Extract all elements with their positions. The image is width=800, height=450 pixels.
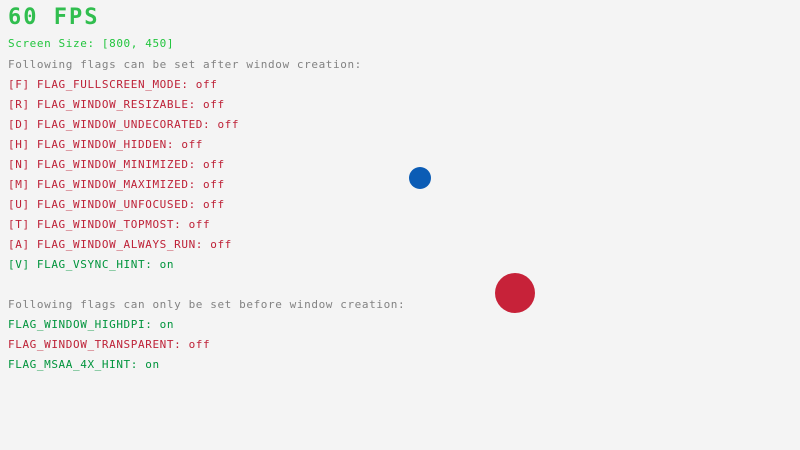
app-window: 60 FPS Screen Size: [800, 450] Following… xyxy=(0,0,800,450)
blue-ball-shape xyxy=(409,167,431,189)
flag-row-window-topmost[interactable]: [T] FLAG_WINDOW_TOPMOST: off xyxy=(8,218,210,231)
flag-row-fullscreen-mode[interactable]: [F] FLAG_FULLSCREEN_MODE: off xyxy=(8,78,217,91)
flag-row-window-transparent: FLAG_WINDOW_TRANSPARENT: off xyxy=(8,338,210,351)
flag-row-window-minimized[interactable]: [N] FLAG_WINDOW_MINIMIZED: off xyxy=(8,158,225,171)
flag-row-window-hidden[interactable]: [H] FLAG_WINDOW_HIDDEN: off xyxy=(8,138,203,151)
after-creation-heading: Following flags can be set after window … xyxy=(8,58,362,71)
flag-row-window-unfocused[interactable]: [U] FLAG_WINDOW_UNFOCUSED: off xyxy=(8,198,225,211)
fps-counter: 60 FPS xyxy=(8,6,99,30)
screen-size-label: Screen Size: [800, 450] xyxy=(8,37,174,50)
flag-row-window-maximized[interactable]: [M] FLAG_WINDOW_MAXIMIZED: off xyxy=(8,178,225,191)
flag-row-window-resizable[interactable]: [R] FLAG_WINDOW_RESIZABLE: off xyxy=(8,98,225,111)
before-creation-heading: Following flags can only be set before w… xyxy=(8,298,405,311)
flag-row-window-highdpi: FLAG_WINDOW_HIGHDPI: on xyxy=(8,318,174,331)
flag-row-msaa-4x-hint: FLAG_MSAA_4X_HINT: on xyxy=(8,358,160,371)
red-ball-shape xyxy=(495,273,535,313)
flag-row-window-undecorated[interactable]: [D] FLAG_WINDOW_UNDECORATED: off xyxy=(8,118,239,131)
flag-row-vsync-hint[interactable]: [V] FLAG_VSYNC_HINT: on xyxy=(8,258,174,271)
flag-row-window-always-run[interactable]: [A] FLAG_WINDOW_ALWAYS_RUN: off xyxy=(8,238,232,251)
